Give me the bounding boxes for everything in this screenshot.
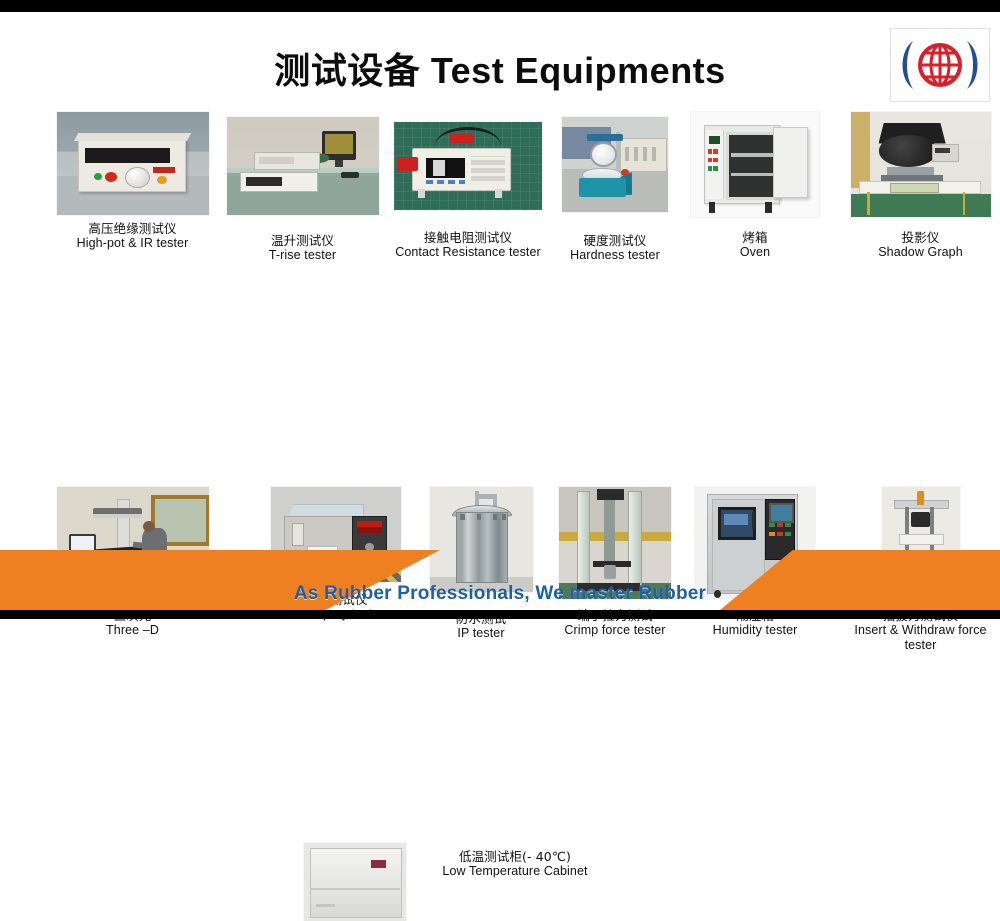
caption-cn: 投影仪	[843, 230, 998, 245]
page-title-chinese: 测试设备	[274, 51, 420, 92]
caption-cn: 低温测试柜(- 40℃)	[415, 849, 615, 864]
equipment-card-t-rise-tester[interactable]: 温升测试仪 T-rise tester	[225, 117, 380, 263]
caption-cn: 硬度测试仪	[540, 233, 690, 248]
caption-cn: 烤箱	[680, 230, 830, 245]
caption-cn: 温升测试仪	[225, 233, 380, 248]
caption-en: Low Temperature Cabinet	[415, 864, 615, 879]
caption-shadow-graph: 投影仪 Shadow Graph	[843, 230, 998, 260]
equipment-row-2: 三次元 Three –D 盐雾测试仪 Salt-Spray tester	[0, 297, 1000, 477]
page-title-english: Test Equipments	[431, 50, 726, 91]
equipment-card-hardness-tester[interactable]: 硬度测试仪 Hardness tester	[540, 117, 690, 263]
equipment-card-low-temperature-cabinet[interactable]	[300, 843, 410, 921]
caption-en: Humidity tester	[680, 623, 830, 638]
caption-t-rise-tester: 温升测试仪 T-rise tester	[225, 233, 380, 263]
footer-slogan: As Rubber Professionals, We master Rubbe…	[0, 583, 1000, 605]
equipment-card-high-pot-ir-tester[interactable]: 高压绝缘测试仪 High-pot & IR tester	[55, 112, 210, 251]
caption-en: Three –D	[55, 623, 210, 638]
equipment-card-shadow-graph[interactable]: 投影仪 Shadow Graph	[843, 112, 998, 260]
caption-cn: 高压绝缘测试仪	[55, 221, 210, 236]
caption-low-temperature-cabinet: 低温测试柜(- 40℃) Low Temperature Cabinet	[415, 849, 615, 879]
caption-en: Hardness tester	[540, 248, 690, 263]
equipment-card-oven[interactable]: 烤箱 Oven	[680, 112, 830, 260]
caption-en: Oven	[680, 245, 830, 260]
top-black-band	[0, 0, 1000, 12]
photo-t-rise-tester	[227, 117, 379, 215]
photo-low-temperature-cabinet	[304, 843, 406, 921]
caption-en: IP tester	[422, 626, 540, 641]
equipment-grid: 高压绝缘测试仪 High-pot & IR tester 温升测试仪 T-ris…	[0, 112, 1000, 567]
caption-hardness-tester: 硬度测试仪 Hardness tester	[540, 233, 690, 263]
page-title: 测试设备 Test Equipments	[0, 42, 1000, 94]
photo-high-pot-ir-tester	[57, 112, 209, 215]
slide-canvas: 测试设备 Test Equipments 高压绝缘测试仪	[0, 0, 1000, 619]
caption-en: Shadow Graph	[843, 245, 998, 260]
photo-oven	[691, 112, 819, 217]
bottom-black-band	[0, 610, 1000, 619]
photo-hardness-tester	[562, 117, 668, 212]
caption-en: Crimp force tester	[540, 623, 690, 638]
caption-en: Contact Resistance tester	[393, 245, 543, 260]
company-logo	[890, 28, 990, 102]
caption-en: T-rise tester	[225, 248, 380, 263]
equipment-row-1: 高压绝缘测试仪 High-pot & IR tester 温升测试仪 T-ris…	[0, 112, 1000, 297]
caption-en: Insert & Withdraw force tester	[843, 623, 998, 653]
caption-en: High-pot & IR tester	[55, 236, 210, 251]
photo-contact-resistance-tester	[394, 122, 542, 210]
equipment-card-contact-resistance-tester[interactable]: 接触电阻测试仪 Contact Resistance tester	[393, 122, 543, 260]
caption-contact-resistance-tester: 接触电阻测试仪 Contact Resistance tester	[393, 230, 543, 260]
caption-high-pot-ir-tester: 高压绝缘测试仪 High-pot & IR tester	[55, 221, 210, 251]
caption-oven: 烤箱 Oven	[680, 230, 830, 260]
photo-shadow-graph	[851, 112, 991, 217]
caption-cn: 接触电阻测试仪	[393, 230, 543, 245]
